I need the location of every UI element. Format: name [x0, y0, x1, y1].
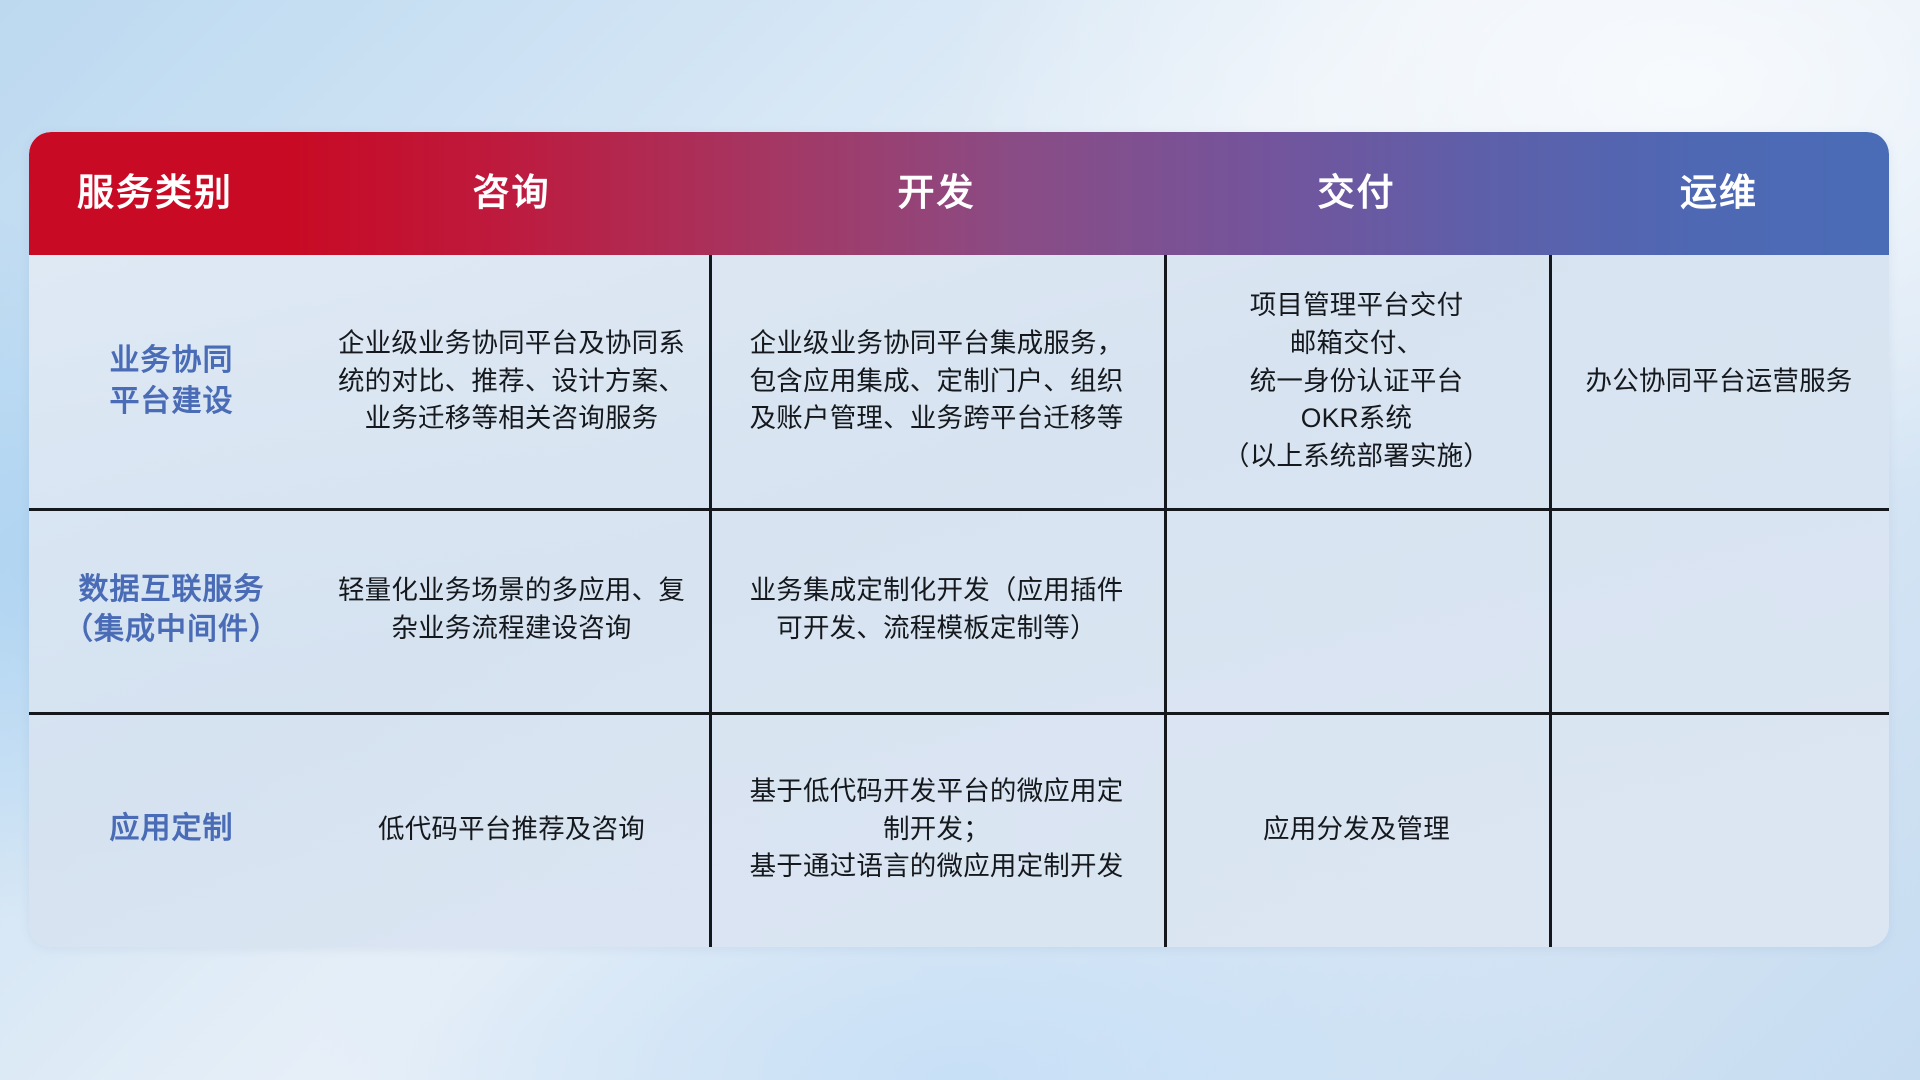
table-row: 数据互联服务 （集成中间件） 轻量化业务场景的多应用、复 杂业务流程建设咨询 业…: [29, 508, 1889, 712]
cell-consulting-data-interconnection: 轻量化业务场景的多应用、复 杂业务流程建设咨询: [314, 508, 709, 712]
cell-operations-application-customization: [1549, 712, 1889, 947]
column-header-delivery: 交付: [1164, 173, 1549, 214]
cell-operations-business-collaboration: 办公协同平台运营服务: [1549, 255, 1889, 508]
cell-category-business-collaboration: 业务协同 平台建设: [29, 255, 314, 508]
table-header-row: 服务类别 咨询 开发 交付 运维: [29, 132, 1889, 255]
row-divider-2: [29, 712, 1889, 715]
cell-development-application-customization: 基于低代码开发平台的微应用定 制开发； 基于通过语言的微应用定制开发: [709, 712, 1164, 947]
cell-category-application-customization: 应用定制: [29, 712, 314, 947]
cell-development-business-collaboration: 企业级业务协同平台集成服务， 包含应用集成、定制门户、组织 及账户管理、业务跨平…: [709, 255, 1164, 508]
column-header-operations: 运维: [1549, 173, 1889, 214]
column-header-service-category: 服务类别: [29, 173, 314, 214]
cell-consulting-business-collaboration: 企业级业务协同平台及协同系 统的对比、推荐、设计方案、 业务迁移等相关咨询服务: [314, 255, 709, 508]
service-matrix-table: 服务类别 咨询 开发 交付 运维 业务协同 平台建设 企业级业务协同平台及协同系…: [29, 132, 1889, 947]
cell-category-data-interconnection: 数据互联服务 （集成中间件）: [29, 508, 314, 712]
cell-operations-data-interconnection: [1549, 508, 1889, 712]
cell-delivery-data-interconnection: [1164, 508, 1549, 712]
table-row: 业务协同 平台建设 企业级业务协同平台及协同系 统的对比、推荐、设计方案、 业务…: [29, 255, 1889, 508]
column-divider-consulting-development: [709, 255, 712, 947]
column-divider-delivery-operations: [1549, 255, 1552, 947]
cell-development-data-interconnection: 业务集成定制化开发（应用插件 可开发、流程模板定制等）: [709, 508, 1164, 712]
table-row: 应用定制 低代码平台推荐及咨询 基于低代码开发平台的微应用定 制开发； 基于通过…: [29, 712, 1889, 947]
table-body: 业务协同 平台建设 企业级业务协同平台及协同系 统的对比、推荐、设计方案、 业务…: [29, 255, 1889, 947]
cell-delivery-application-customization: 应用分发及管理: [1164, 712, 1549, 947]
column-header-development: 开发: [709, 173, 1164, 214]
row-divider-1: [29, 508, 1889, 511]
cell-consulting-application-customization: 低代码平台推荐及咨询: [314, 712, 709, 947]
column-header-consulting: 咨询: [314, 173, 709, 214]
cell-delivery-business-collaboration: 项目管理平台交付 邮箱交付、 统一身份认证平台 OKR系统 （以上系统部署实施）: [1164, 255, 1549, 508]
column-divider-development-delivery: [1164, 255, 1167, 947]
